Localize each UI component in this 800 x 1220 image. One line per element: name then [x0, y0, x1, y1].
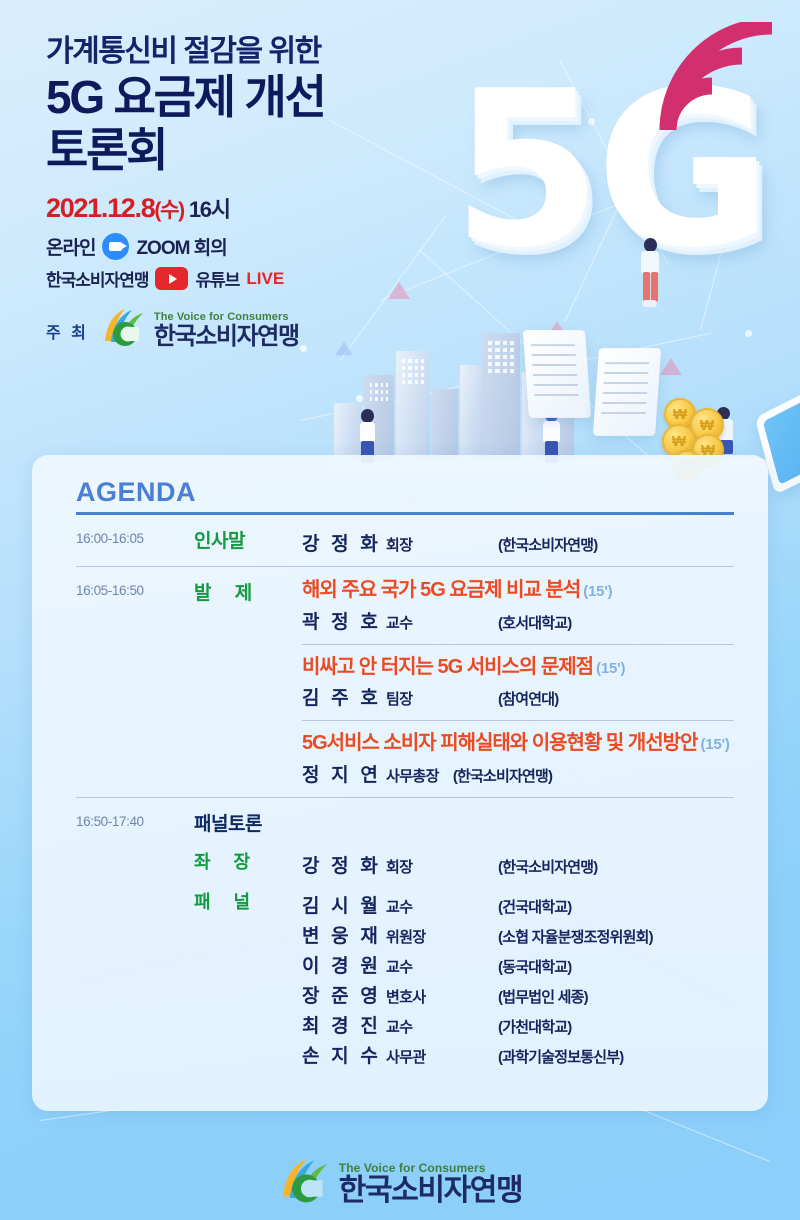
event-date: 2021.12.8: [46, 193, 154, 223]
speaker-role: 변호사: [386, 986, 426, 1007]
speaker-org: (참여연대): [498, 688, 734, 709]
person-seated: [712, 407, 738, 459]
speaker-org: (한국소비자연맹): [453, 765, 552, 786]
panel-group-people: 강 정 화 회장 (한국소비자연맹): [302, 848, 734, 878]
agenda-time: 16:05-16:50: [76, 578, 194, 787]
agenda-row-greeting: 16:00-16:05 인사말 강 정 화 회장 (한국소비자연맹): [76, 515, 734, 566]
speaker-org: (소협 자율분쟁조정위원회): [498, 926, 734, 947]
talk-title: 5G서비스 소비자 피해실태와 이용현황 및 개선방안: [302, 732, 697, 754]
online-label: 온라인: [46, 233, 95, 260]
speaker-role: 팀장: [386, 688, 412, 709]
person-walking: [637, 238, 663, 310]
youtube-label: 유튜브: [195, 266, 239, 291]
speaker-line: 강 정 화 회장 (한국소비자연맹): [302, 529, 734, 556]
agenda-card: AGENDA 16:00-16:05 인사말 강 정 화 회장 (한국소비자연맹…: [32, 455, 768, 1111]
poster-footer: The Voice for Consumers 한국소비자연맹: [0, 1157, 800, 1206]
logo-name: 한국소비자연맹: [154, 325, 299, 349]
speaker-name: 김 시 월: [302, 891, 381, 918]
video-camera-icon: [102, 233, 129, 260]
speaker-org: (동국대학교): [498, 956, 734, 977]
coin-icon: [690, 408, 724, 442]
speaker-line: 장 준 영 변호사 (법무법인 세종): [302, 981, 734, 1008]
speaker-org: (건국대학교): [498, 896, 734, 917]
speaker-name: 변 웅 재: [302, 921, 381, 948]
speaker-org: (한국소비자연맹): [498, 534, 734, 555]
event-time: 16시: [189, 197, 230, 222]
speaker-name: 강 정 화: [302, 529, 381, 556]
talk-duration: (15'): [583, 583, 612, 600]
agenda-body: 패널토론 좌 장 강 정 화 회장 (한국소비자연맹) 패 널: [194, 809, 734, 1068]
footer-logo-name: 한국소비자연맹: [339, 1176, 522, 1206]
speaker-org: (호서대학교): [498, 612, 734, 633]
speaker-org: (한국소비자연맹): [498, 856, 734, 877]
receipt-illustration-2: [593, 348, 661, 436]
wifi-signal-icon: [654, 22, 782, 134]
panel-group-people: 김 시 월 교수 (건국대학교) 변 웅 재 위원장 (소협 자율분쟁조정위원회…: [302, 888, 734, 1068]
speaker-role: 회장: [386, 856, 412, 877]
poster-header: 가계통신비 절감을 위한 5G 요금제 개선 토론회 2021.12.8(수)1…: [46, 34, 466, 349]
speaker-name: 이 경 원: [302, 951, 381, 978]
speaker-org: (가천대학교): [498, 1016, 734, 1037]
agenda-row-presentations: 16:05-16:50 발 제 해외 주요 국가 5G 요금제 비교 분석(15…: [76, 566, 734, 797]
speaker-name: 강 정 화: [302, 851, 381, 878]
coin-icon: [662, 424, 696, 458]
panel-group-moderator: 좌 장 강 정 화 회장 (한국소비자연맹): [194, 848, 734, 878]
speaker-name: 최 경 진: [302, 1011, 381, 1038]
speaker-line: 최 경 진 교수 (가천대학교): [302, 1011, 734, 1038]
consumer-federation-logo-icon: [278, 1157, 332, 1206]
speaker-org: (과학기술정보통신부): [498, 1046, 734, 1067]
speaker-line: 정 지 연 사무총장 (한국소비자연맹): [302, 760, 734, 787]
speaker-line: 김 주 호 팀장 (참여연대): [302, 683, 734, 710]
agenda-heading: AGENDA: [76, 477, 734, 508]
talk-block: 비싸고 안 터지는 5G 서비스의 문제점(15') 김 주 호 팀장 (참여연…: [302, 644, 734, 711]
youtube-channel-row: 한국소비자연맹 유튜브 LIVE: [46, 266, 466, 291]
talk-duration: (15'): [596, 660, 625, 677]
speaker-name: 손 지 수: [302, 1041, 381, 1068]
poster-title-line2: 토론회: [46, 124, 466, 176]
speaker-line: 곽 정 호 교수 (호서대학교): [302, 607, 734, 634]
logo-tagline: The Voice for Consumers: [154, 312, 299, 323]
organizer-logo-text: The Voice for Consumers 한국소비자연맹: [154, 312, 299, 349]
agenda-body: 강 정 화 회장 (한국소비자연맹): [302, 526, 734, 556]
agenda-row-panel: 16:50-17:40 패널토론 좌 장 강 정 화 회장 (한국소비자연맹): [76, 797, 734, 1078]
talk-title-row: 해외 주요 국가 5G 요금제 비교 분석(15'): [302, 578, 734, 604]
speaker-role: 위원장: [386, 926, 426, 947]
agenda-time: 16:00-16:05: [76, 526, 194, 556]
speaker-name: 곽 정 호: [302, 607, 381, 634]
agenda-kind: 인사말: [194, 526, 302, 556]
talk-title-row: 5G서비스 소비자 피해실태와 이용현황 및 개선방안(15'): [302, 731, 734, 757]
speaker-role: 교수: [386, 956, 412, 977]
speaker-name: 장 준 영: [302, 981, 381, 1008]
poster-title-line1: 5G 요금제 개선: [46, 71, 466, 123]
speaker-line: 변 웅 재 위원장 (소협 자율분쟁조정위원회): [302, 921, 734, 948]
speaker-role: 사무총장: [386, 765, 439, 786]
talk-duration: (15'): [700, 736, 729, 753]
panel-group-panelists: 패 널 김 시 월 교수 (건국대학교) 변 웅 재 위원장 (소협 자율분쟁조…: [194, 888, 734, 1068]
organizer-logo: The Voice for Consumers 한국소비자연맹: [101, 307, 299, 349]
agenda-kind: 발 제: [194, 578, 302, 787]
poster-kicker: 가계통신비 절감을 위한: [46, 34, 466, 69]
panel-group-label: 패 널: [194, 888, 302, 1068]
speaker-role: 회장: [386, 534, 412, 555]
speaker-role: 교수: [386, 896, 412, 917]
talk-title: 비싸고 안 터지는 5G 서비스의 문제점: [302, 656, 593, 678]
host-label: 주 최: [46, 319, 89, 349]
talk-title: 해외 주요 국가 5G 요금제 비교 분석: [302, 579, 580, 601]
event-datetime: 2021.12.8(수)16시: [46, 192, 466, 224]
zoom-label: ZOOM 회의: [136, 233, 226, 260]
talk-block: 해외 주요 국가 5G 요금제 비교 분석(15') 곽 정 호 교수 (호서대…: [302, 578, 734, 634]
speaker-role: 교수: [386, 612, 412, 633]
speaker-name: 김 주 호: [302, 683, 381, 710]
speaker-line: 강 정 화 회장 (한국소비자연맹): [302, 851, 734, 878]
event-poster: 5G: [0, 0, 800, 1220]
speaker-org: (법무법인 세종): [498, 986, 734, 1007]
youtube-play-icon: [155, 267, 188, 290]
footer-logo-tagline: The Voice for Consumers: [339, 1162, 522, 1174]
speaker-role: 교수: [386, 1016, 412, 1037]
talk-title-row: 비싸고 안 터지는 5G 서비스의 문제점(15'): [302, 655, 734, 681]
agenda-body: 해외 주요 국가 5G 요금제 비교 분석(15') 곽 정 호 교수 (호서대…: [302, 578, 734, 787]
broadcaster-label: 한국소비자연맹: [46, 266, 148, 291]
speaker-line: 김 시 월 교수 (건국대학교): [302, 891, 734, 918]
live-badge: LIVE: [246, 269, 284, 289]
speaker-line: 손 지 수 사무관 (과학기술정보통신부): [302, 1041, 734, 1068]
speaker-line: 이 경 원 교수 (동국대학교): [302, 951, 734, 978]
5g-watermark: 5G: [452, 78, 766, 263]
footer-logo-text: The Voice for Consumers 한국소비자연맹: [339, 1162, 522, 1206]
footer-logo: The Voice for Consumers 한국소비자연맹: [278, 1157, 522, 1206]
panel-heading: 패널토론: [194, 809, 734, 836]
agenda-time: 16:50-17:40: [76, 809, 194, 1068]
speaker-role: 사무관: [386, 1046, 426, 1067]
receipt-illustration: [523, 330, 591, 418]
zoom-channel-row: 온라인 ZOOM 회의: [46, 233, 466, 260]
talk-block: 5G서비스 소비자 피해실태와 이용현황 및 개선방안(15') 정 지 연 사…: [302, 720, 734, 787]
event-day-of-week: (수): [154, 199, 183, 222]
panel-group-label: 좌 장: [194, 848, 302, 878]
host-row: 주 최 The Voice for Consumers 한국소비자연맹: [46, 307, 466, 349]
coin-icon: [664, 398, 696, 430]
consumer-federation-logo-icon: [101, 307, 147, 349]
speaker-name: 정 지 연: [302, 760, 381, 787]
